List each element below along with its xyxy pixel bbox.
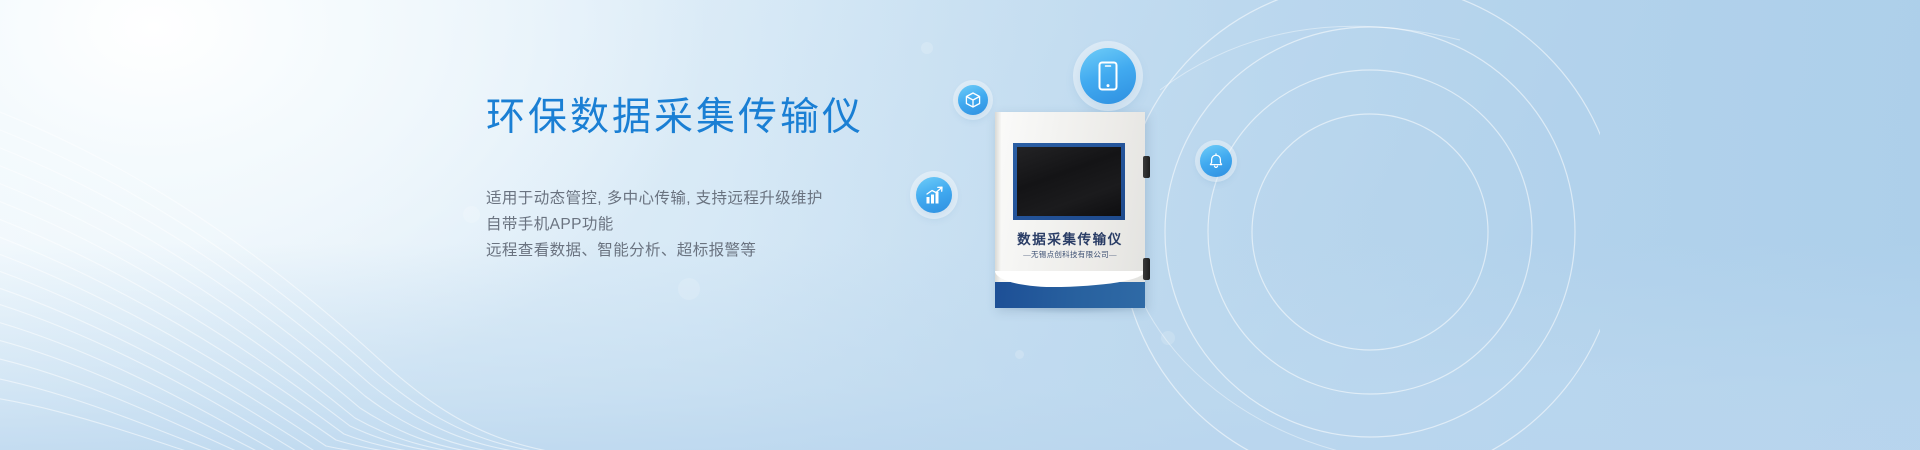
device-hinge-bottom [1143,258,1150,280]
bokeh-dot [1161,331,1175,345]
page-title: 环保数据采集传输仪 [486,96,950,140]
bokeh-dot [921,42,933,54]
product-banner: 环保数据采集传输仪 适用于动态管控, 多中心传输, 支持远程升级维护 自带手机A… [0,0,1920,450]
bar-chart-icon [925,186,944,205]
cube-icon [965,92,981,108]
bokeh-dot [1015,350,1024,359]
device-left-edge [995,112,1001,308]
phone-icon-badge[interactable] [1080,48,1136,104]
device-body: 数据采集传输仪 —无锡点创科技有限公司— [995,112,1145,308]
device-hinge-top [1143,156,1150,178]
alarm-icon [1208,153,1224,169]
device-footer-band [995,282,1145,308]
phone-icon [1098,61,1118,91]
device-screen-frame [1013,143,1125,220]
subtitle-line-3: 远程查看数据、智能分析、超标报警等 [486,238,950,264]
device-screen [1017,147,1121,216]
alarm-icon-badge[interactable] [1200,145,1232,177]
bar-chart-icon-badge[interactable] [916,177,952,213]
bokeh-dot [678,278,700,300]
subtitle-line-1: 适用于动态管控, 多中心传输, 支持远程升级维护 [486,186,950,212]
subtitle-line-2: 自带手机APP功能 [486,212,950,238]
subtitle-list: 适用于动态管控, 多中心传输, 支持远程升级维护 自带手机APP功能 远程查看数… [486,186,950,264]
device-label: 数据采集传输仪 [995,228,1145,248]
cube-icon-badge[interactable] [958,85,988,115]
device-company: —无锡点创科技有限公司— [995,249,1145,260]
banner-copy: 环保数据采集传输仪 适用于动态管控, 多中心传输, 支持远程升级维护 自带手机A… [390,96,950,264]
device-image: 数据采集传输仪 —无锡点创科技有限公司— [995,112,1145,308]
